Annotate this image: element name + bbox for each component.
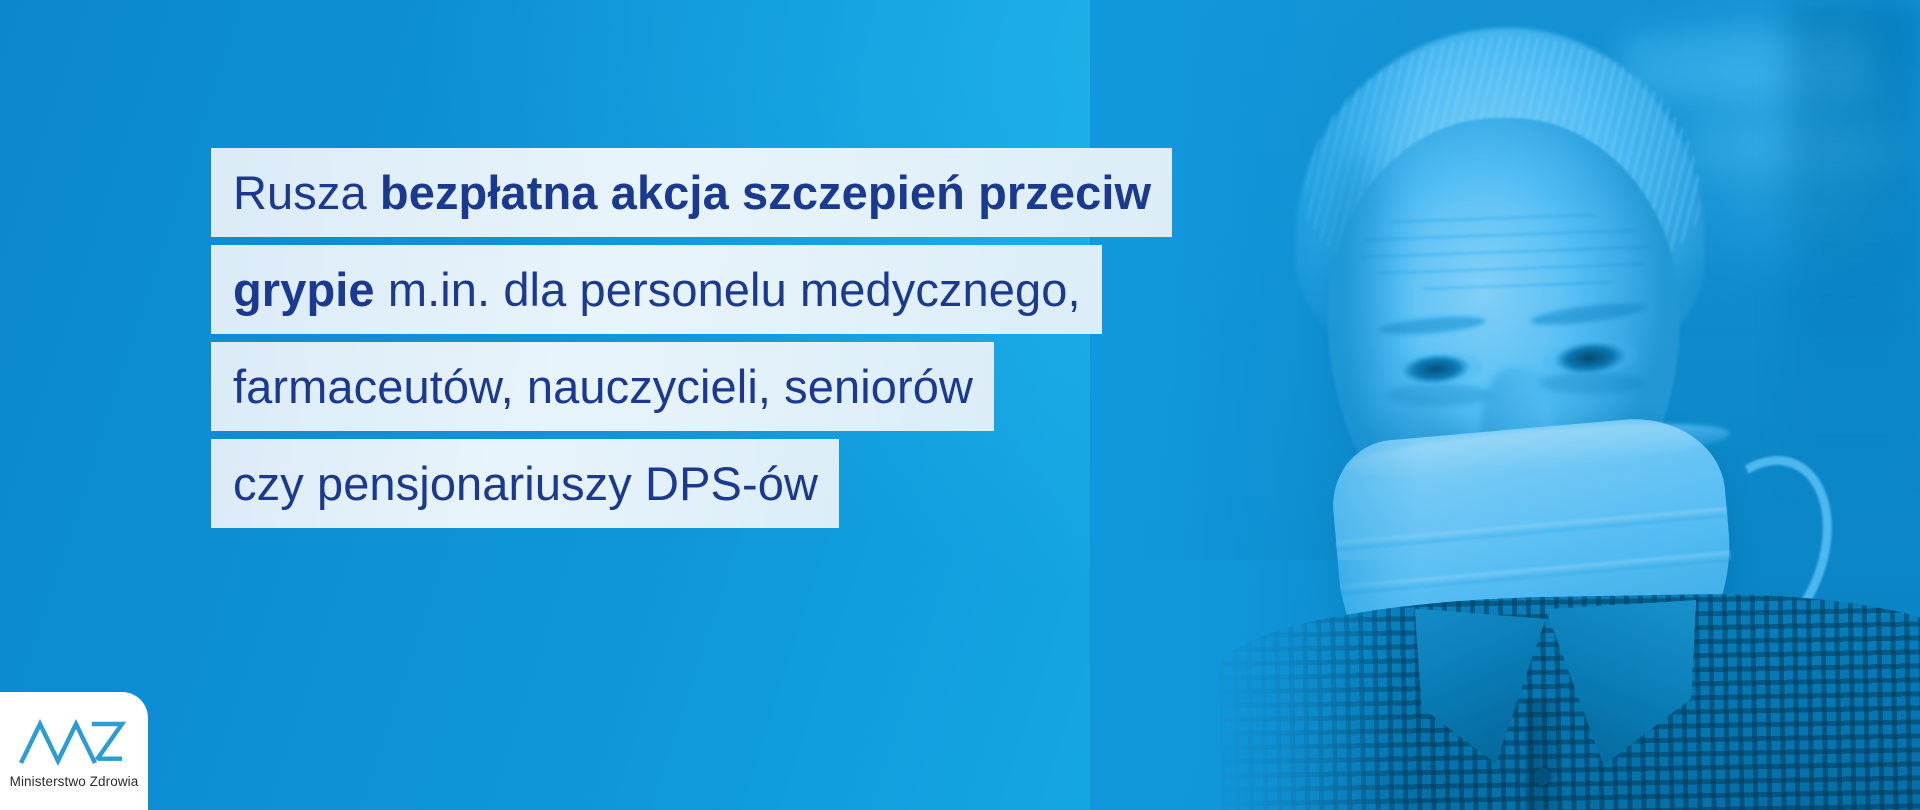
headline-line-1-bold: bezpłatna akcja szczepień przeciw <box>380 166 1151 219</box>
mz-zigzag-icon <box>18 714 130 770</box>
headline-line-2-plain-after: m.in. dla personelu medycznego, <box>375 263 1081 316</box>
photo-inner <box>1090 0 1920 810</box>
campaign-banner: Rusza bezpłatna akcja szczepień przeciw … <box>0 0 1920 810</box>
photo-elderly-man-with-mask <box>1090 0 1920 810</box>
headline-line-2: grypie m.in. dla personelu medycznego, <box>211 245 1102 334</box>
headline-line-1-plain-before: Rusza <box>233 166 380 219</box>
headline-line-3-plain-before: farmaceutów, nauczycieli, seniorów <box>233 360 973 413</box>
headline: Rusza bezpłatna akcja szczepień przeciw … <box>211 148 1172 528</box>
ministry-logo-card: Ministerstwo Zdrowia <box>0 692 148 810</box>
headline-line-3: farmaceutów, nauczycieli, seniorów <box>211 342 994 431</box>
headline-line-4: czy pensjonariuszy DPS-ów <box>211 439 839 528</box>
headline-line-2-bold: grypie <box>233 263 375 316</box>
headline-line-1: Rusza bezpłatna akcja szczepień przeciw <box>211 148 1172 237</box>
headline-line-4-plain-before: czy pensjonariuszy DPS-ów <box>233 457 818 510</box>
ministry-logo-label: Ministerstwo Zdrowia <box>10 774 139 789</box>
